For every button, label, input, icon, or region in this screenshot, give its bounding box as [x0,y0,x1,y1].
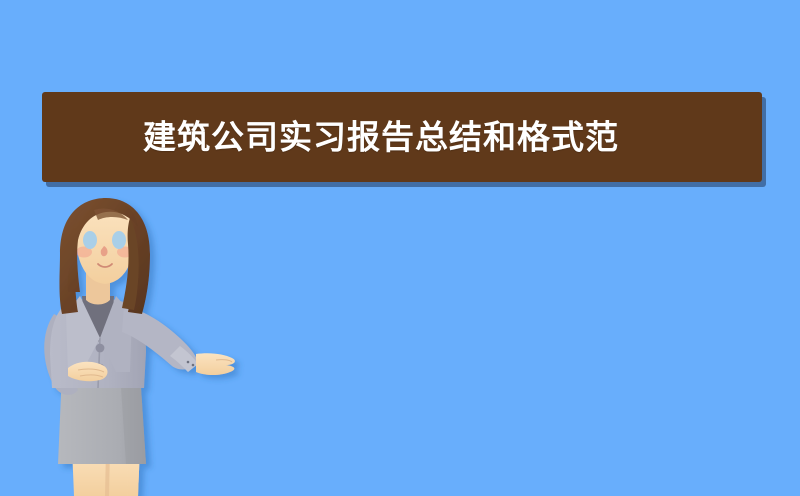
slide-canvas: 建筑公司实习报告总结和格式范 [0,0,800,496]
eye-right [83,231,97,249]
page-title: 建筑公司实习报告总结和格式范 [143,121,619,154]
hand-right [196,353,235,375]
cuff-button-b [192,364,195,367]
eye-left [112,231,126,249]
cuff-button-a [187,361,190,364]
title-banner: 建筑公司实习报告总结和格式范 [42,92,762,182]
businesswoman-figure [20,196,270,496]
button-upper [96,344,105,353]
businesswoman-illustration [20,196,270,496]
